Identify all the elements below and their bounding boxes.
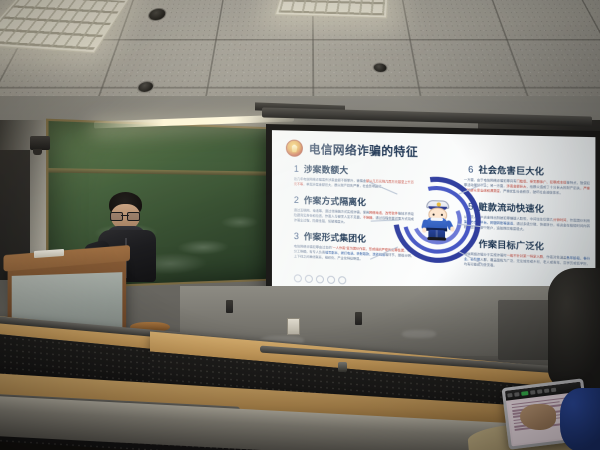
slide-item-title: 作案目标广泛化: [479, 238, 544, 253]
slide-item-number: 3: [294, 231, 299, 241]
hanging-clip: [226, 300, 233, 313]
lecture-hall-photo: 电信网络诈骗的特征 1 涉案数额大 近几年电信网络诈骗案件涉案金额不断攀升，被骗…: [0, 0, 600, 450]
slide-item: 5 赃款流动快速化 从被害人账户资金转出到被犯罪嫌疑人取现，中间往往仅需几分钟时…: [464, 200, 590, 234]
slide-item-number: 6: [468, 164, 473, 174]
slide-right-column: 6 社会危害巨大化 一方面，由于电信网络诈骗犯罪具有门槛低、受害群体广、犯罪成本…: [464, 163, 590, 279]
slide-item-number: 1: [294, 164, 299, 174]
slide-title: 电信网络诈骗的特征: [309, 140, 418, 159]
toolbar-button[interactable]: [530, 390, 535, 395]
eyeglasses-icon: [110, 212, 140, 219]
hanging-clip: [355, 312, 362, 325]
toolbar-button[interactable]: [544, 388, 549, 393]
toolbar-button-active[interactable]: [521, 391, 528, 396]
police-mascot-icon: [423, 200, 450, 240]
foreground-person: [548, 268, 600, 388]
glasses-lens-right: [127, 212, 140, 221]
desk-rail-knob: [338, 362, 347, 372]
toolbar-button[interactable]: [514, 392, 519, 397]
mascot-cap-badge: [436, 202, 440, 206]
slide-title-row: 电信网络诈骗的特征: [286, 139, 418, 159]
mascot-shoes: [427, 237, 446, 241]
presentation-slide: 电信网络诈骗的特征 1 涉案数额大 近几年电信网络诈骗案件涉案金额不断攀升，被骗…: [272, 130, 595, 304]
foreground-blue-sleeve: [560, 388, 600, 450]
wall-mounted-speaker-icon: [30, 136, 50, 150]
footer-icon: [305, 275, 313, 283]
footer-icon: [338, 276, 346, 284]
light-louver-grille: [279, 0, 387, 16]
slide-item-title: 涉案数额大: [304, 163, 348, 176]
mascot-hand-right: [450, 226, 455, 231]
footer-icon: [316, 275, 324, 283]
slide-item-heading: 5 赃款流动快速化: [464, 200, 590, 216]
slide-footer-icons: [294, 274, 346, 284]
slide-item-heading: 6 社会危害巨大化: [464, 163, 590, 179]
glasses-lens-left: [110, 212, 123, 221]
wall-scuff: [402, 330, 436, 338]
footer-icon: [294, 274, 302, 282]
wall-outlet-plate: [287, 318, 300, 335]
toolbar-button[interactable]: [551, 388, 556, 393]
foreground-hand: [520, 404, 556, 430]
toolbar-button[interactable]: [507, 393, 512, 398]
slide-item-title: 赃款流动快速化: [479, 201, 544, 216]
slide-item-number: 2: [294, 195, 299, 205]
slide-item-title: 社会危害巨大化: [479, 163, 544, 177]
police-badge-icon: [286, 139, 303, 156]
ceiling-speaker-icon: [372, 62, 388, 73]
toolbar-button[interactable]: [537, 389, 542, 394]
footer-icon: [327, 276, 335, 284]
slide-item-title: 作案形式集团化: [304, 230, 366, 244]
slide-item: 4 作案目标广泛化 电信网络诈骗分子实施诈骗时一般不针对某一特定人群，作案对象涵…: [464, 237, 590, 272]
slide-item-title: 作案方式隔离化: [304, 194, 366, 208]
slide-item-body: 一方面，由于电信网络诈骗犯罪具有门槛低、受害群体广、犯罪成本低等特点，致使犯罪活…: [464, 178, 590, 197]
slide-item: 6 社会危害巨大化 一方面，由于电信网络诈骗犯罪具有门槛低、受害群体广、犯罪成本…: [464, 163, 590, 197]
slide-item-body: 从被害人账户资金转出到被犯罪嫌疑人取现，中间往往仅需几分钟时间，作案团伙利用第三…: [464, 215, 590, 235]
